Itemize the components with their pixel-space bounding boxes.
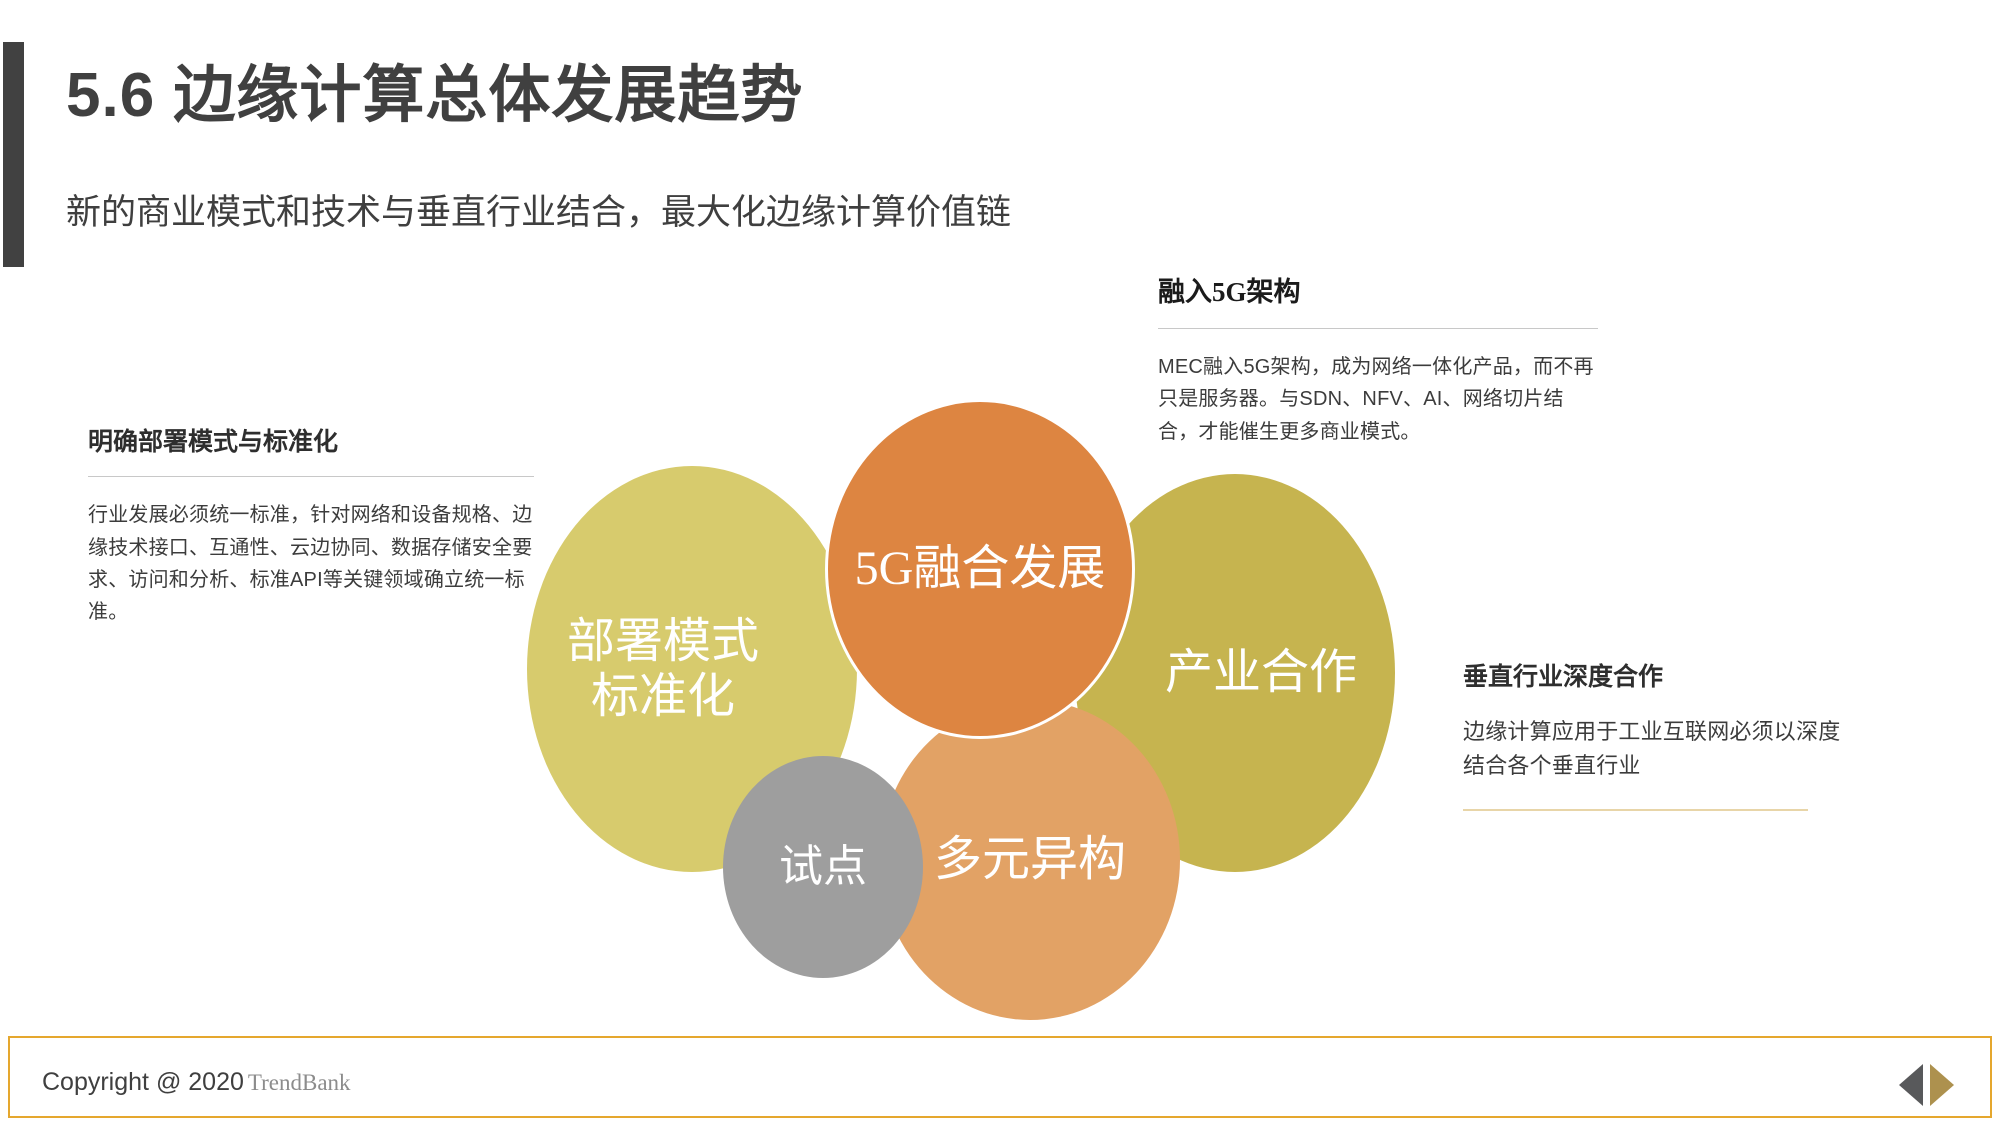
bubble-pilot[interactable]: 试点 bbox=[723, 756, 923, 978]
bubble-heterogeneous[interactable]: 多元异构 bbox=[880, 700, 1180, 1020]
footer-copyright-text: Copyright @ 2020 bbox=[42, 1068, 244, 1096]
footer-copyright: Copyright @ 2020TrendBank bbox=[42, 1068, 351, 1097]
slide-canvas: 5.6 边缘计算总体发展趋势 新的商业模式和技术与垂直行业结合，最大化边缘计算价… bbox=[0, 0, 2000, 1125]
next-arrow-icon[interactable] bbox=[1930, 1064, 1954, 1106]
bubble-label-fusion-5g: 5G融合发展 bbox=[855, 541, 1106, 596]
nav-arrows bbox=[1899, 1064, 1954, 1106]
bubble-label-heterogeneous: 多元异构 bbox=[934, 832, 1126, 887]
bubble-fusion-5g[interactable]: 5G融合发展 bbox=[825, 399, 1135, 739]
prev-arrow-icon[interactable] bbox=[1899, 1064, 1923, 1106]
venn-diagram: 部署模式 标准化 产业合作 多元异构 试点 5G融合发展 bbox=[0, 0, 2000, 1125]
bubble-label-industry-coop: 产业合作 bbox=[1165, 645, 1357, 700]
bubble-label-pilot: 试点 bbox=[779, 842, 867, 893]
bubble-label-standardize: 部署模式 标准化 bbox=[567, 614, 759, 724]
footer-brand: TrendBank bbox=[248, 1070, 351, 1095]
